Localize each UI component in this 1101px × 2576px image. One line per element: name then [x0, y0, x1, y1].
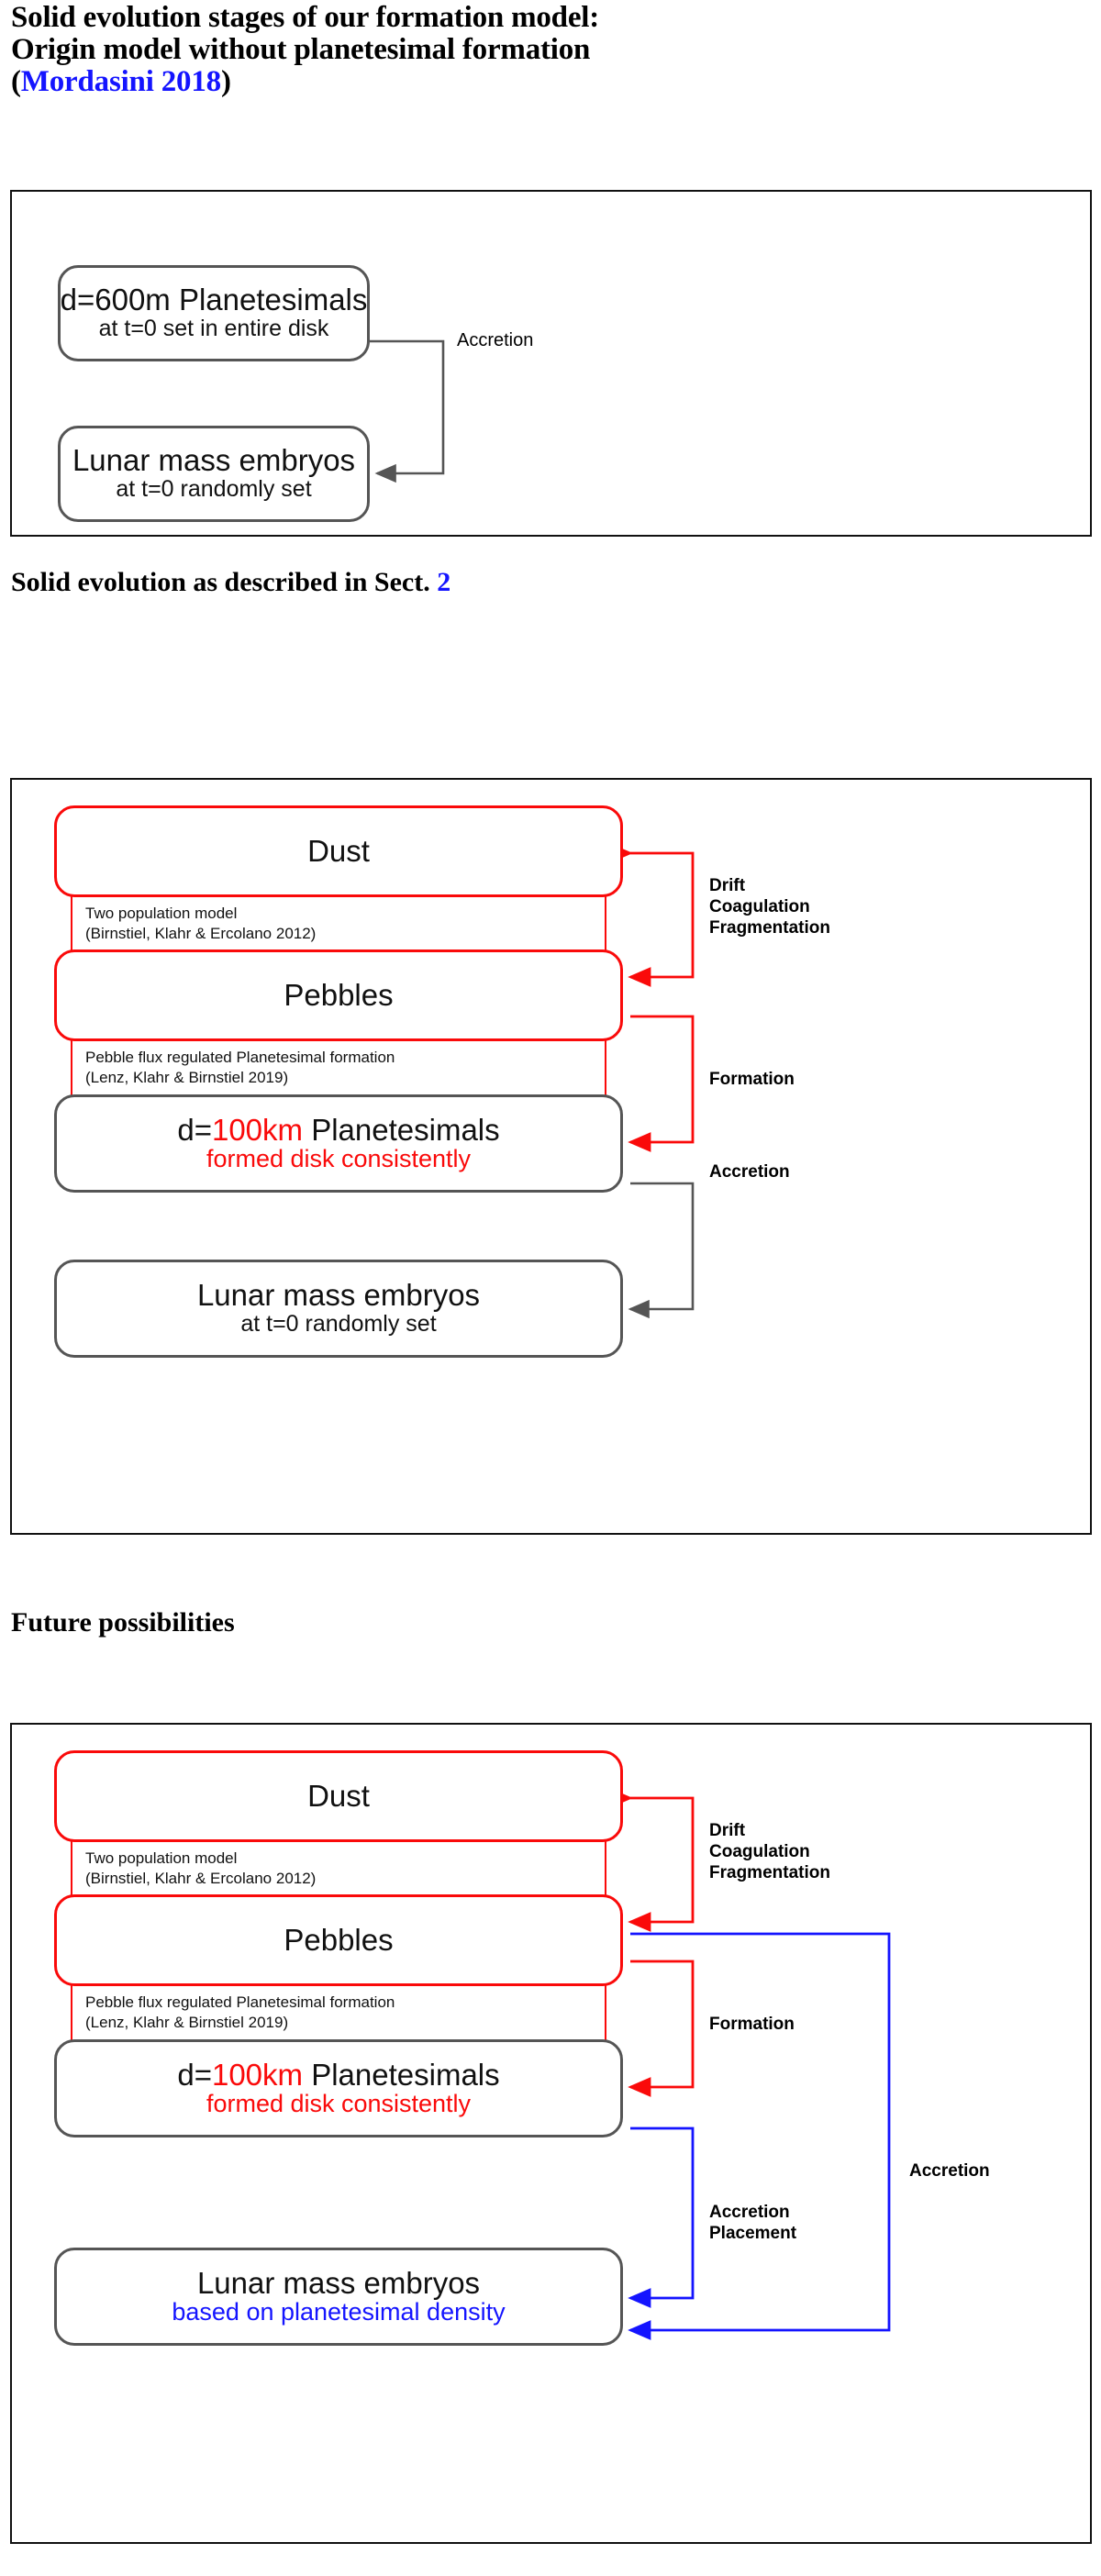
- section-heading-text: Solid evolution as described in Sect.: [11, 567, 437, 597]
- arrow-label-drift-coagulation-fragmentation: Drift Coagulation Fragmentation: [709, 875, 830, 938]
- node-title: d=100km Planetesimals: [177, 1115, 499, 1146]
- panel-origin-model: d=600m Planetesimals at t=0 set in entir…: [10, 190, 1092, 537]
- page-title: Solid evolution stages of our formation …: [11, 2, 1066, 98]
- page-title-line-1: Solid evolution stages of our formation …: [11, 2, 1066, 34]
- node-planetesimals-100km[interactable]: d=100km Planetesimals formed disk consis…: [54, 1094, 623, 1193]
- node-subtitle: at t=0 set in entire disk: [99, 316, 329, 342]
- arrow-accretion: [630, 1934, 889, 2330]
- node-title: Pebbles: [284, 1925, 393, 1956]
- subbox-line-2: (Birnstiel, Klahr & Ercolano 2012): [85, 924, 605, 944]
- arrow-label-formation: Formation: [709, 2014, 795, 2035]
- node-dust[interactable]: Dust: [54, 1750, 623, 1842]
- panel-future-possibilities: Dust Two population model (Birnstiel, Kl…: [10, 1723, 1092, 2544]
- arrow-label-line: Fragmentation: [709, 917, 830, 938]
- node-title: Dust: [307, 836, 370, 867]
- node-title: Pebbles: [284, 980, 393, 1011]
- page-title-line-3: (Mordasini 2018): [11, 66, 1066, 98]
- arrow-accretion-placement: [630, 2128, 693, 2298]
- arrow-label-drift-coagulation-fragmentation: Drift Coagulation Fragmentation: [709, 1820, 830, 1883]
- arrow-label-line: Drift: [709, 1820, 830, 1841]
- node-title-suffix: Planetesimals: [303, 1113, 500, 1147]
- subbox-line-1: Pebble flux regulated Planetesimal forma…: [85, 1048, 605, 1068]
- subbox-pebble-flux-formation: Pebble flux regulated Planetesimal forma…: [71, 1976, 606, 2049]
- arrow-label-accretion-placement: Accretion Placement: [709, 2202, 796, 2244]
- subbox-line-1: Two population model: [85, 1849, 605, 1869]
- node-title: d=100km Planetesimals: [177, 2060, 499, 2091]
- paren-open: (: [11, 65, 21, 98]
- arrow-formation: [630, 1961, 693, 2087]
- node-subtitle: at t=0 randomly set: [116, 476, 311, 503]
- section-heading-future-possibilities: Future possibilities: [11, 1607, 235, 1638]
- arrow-accretion: [370, 341, 443, 473]
- section-heading-solid-evolution: Solid evolution as described in Sect. 2: [11, 567, 450, 598]
- arrow-label-line: Drift: [709, 875, 830, 896]
- arrow-formation: [630, 1016, 693, 1142]
- node-subtitle: based on planetesimal density: [172, 2299, 505, 2326]
- node-title: Lunar mass embryos: [197, 1280, 480, 1311]
- subbox-line-2: (Lenz, Klahr & Birnstiel 2019): [85, 2013, 605, 2033]
- node-title-emphasis: 100km: [212, 1113, 303, 1147]
- node-lunar-mass-embryos[interactable]: Lunar mass embryos at t=0 randomly set: [54, 1260, 623, 1358]
- citation-link-mordasini[interactable]: Mordasini 2018: [21, 65, 221, 98]
- node-subtitle: formed disk consistently: [206, 2091, 471, 2117]
- node-subtitle: at t=0 randomly set: [240, 1311, 436, 1338]
- arrow-label-line: Accretion: [457, 330, 533, 351]
- arrow-label-accretion: Accretion: [457, 330, 533, 351]
- arrow-drift-coagulation-fragmentation: [630, 1798, 693, 1922]
- subbox-line-2: (Birnstiel, Klahr & Ercolano 2012): [85, 1869, 605, 1889]
- node-title-suffix: Planetesimals: [303, 2058, 500, 2092]
- arrow-label-line: Accretion: [909, 2160, 990, 2182]
- arrow-label-line: Coagulation: [709, 896, 830, 917]
- paren-close: ): [221, 65, 231, 98]
- node-title: d=600m Planetesimals: [61, 284, 368, 316]
- node-pebbles[interactable]: Pebbles: [54, 949, 623, 1041]
- node-planetesimals-600m[interactable]: d=600m Planetesimals at t=0 set in entir…: [58, 265, 370, 361]
- section-ref-link[interactable]: 2: [437, 567, 450, 597]
- node-title-prefix: d=: [177, 2058, 212, 2092]
- page-title-line-2: Origin model without planetesimal format…: [11, 34, 1066, 66]
- subbox-pebble-flux-formation: Pebble flux regulated Planetesimal forma…: [71, 1031, 606, 1105]
- node-title-emphasis: 100km: [212, 2058, 303, 2092]
- node-lunar-mass-embryos[interactable]: Lunar mass embryos at t=0 randomly set: [58, 426, 370, 522]
- arrow-label-accretion: Accretion: [909, 2160, 990, 2182]
- arrow-label-line: Accretion: [709, 2202, 796, 2223]
- node-title-prefix: d=: [177, 1113, 212, 1147]
- subbox-line-1: Pebble flux regulated Planetesimal forma…: [85, 1993, 605, 2013]
- section-heading-text: Future possibilities: [11, 1607, 235, 1638]
- node-subtitle: formed disk consistently: [206, 1146, 471, 1172]
- arrow-accretion: [630, 1183, 693, 1309]
- arrow-label-line: Fragmentation: [709, 1862, 830, 1883]
- arrow-label-formation: Formation: [709, 1069, 795, 1090]
- arrow-label-line: Accretion: [709, 1161, 790, 1183]
- node-title: Lunar mass embryos: [197, 2268, 480, 2299]
- arrow-label-line: Formation: [709, 2014, 795, 2035]
- node-pebbles[interactable]: Pebbles: [54, 1894, 623, 1986]
- arrow-label-line: Placement: [709, 2223, 796, 2244]
- subbox-line-1: Two population model: [85, 904, 605, 924]
- subbox-line-2: (Lenz, Klahr & Birnstiel 2019): [85, 1068, 605, 1088]
- node-dust[interactable]: Dust: [54, 805, 623, 897]
- node-title: Lunar mass embryos: [72, 445, 355, 476]
- arrow-drift-coagulation-fragmentation: [630, 853, 693, 977]
- arrow-label-accretion: Accretion: [709, 1161, 790, 1183]
- node-planetesimals-100km[interactable]: d=100km Planetesimals formed disk consis…: [54, 2039, 623, 2137]
- node-lunar-mass-embryos[interactable]: Lunar mass embryos based on planetesimal…: [54, 2248, 623, 2346]
- arrow-label-line: Formation: [709, 1069, 795, 1090]
- arrow-label-line: Coagulation: [709, 1841, 830, 1862]
- panel-solid-evolution: Dust Two population model (Birnstiel, Kl…: [10, 778, 1092, 1535]
- node-title: Dust: [307, 1781, 370, 1812]
